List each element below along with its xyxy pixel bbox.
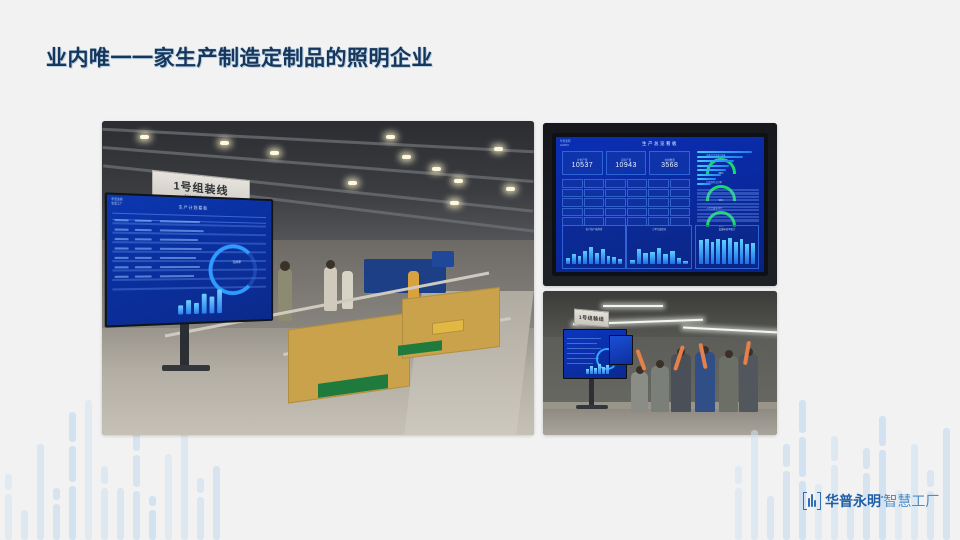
decor-bar-column bbox=[778, 380, 794, 540]
brand-sub: 智慧工厂 bbox=[883, 493, 939, 509]
kpi-value: 3568 bbox=[661, 162, 678, 169]
production-kanban-monitor: 华普永明智慧工厂 生产计划看板 bbox=[105, 192, 273, 327]
decor-bar-column bbox=[0, 360, 16, 540]
decor-bar-column bbox=[874, 380, 890, 540]
line-sign-1: 1号组装线 bbox=[574, 308, 609, 327]
display-bezel: 华普永明HUAPU 生产总览看板 计划产量 10537 实际产量 10943 在… bbox=[552, 133, 768, 276]
brand-logo: 华普永明°智慧工厂 bbox=[803, 491, 939, 511]
station-tablet-screen bbox=[609, 335, 633, 365]
worker bbox=[719, 356, 738, 412]
decor-bar-column bbox=[906, 380, 922, 540]
chart-title: 工单完成情况 bbox=[627, 227, 691, 231]
decor-bar-column bbox=[858, 380, 874, 540]
decor-bar-column bbox=[826, 380, 842, 540]
horizontal-bar-chart bbox=[697, 151, 759, 185]
decor-bar-column bbox=[64, 360, 80, 540]
chart-workorder-status: 工单完成情况 bbox=[626, 225, 692, 269]
kpi-card: 计划产量 10537 bbox=[562, 151, 603, 175]
brand-logo-text: 华普永明°智慧工厂 bbox=[825, 491, 939, 511]
photo-assembly-line-workers: 1号组装线 bbox=[543, 291, 777, 435]
page-title: 业内唯一一家生产制造定制品的照明企业 bbox=[46, 42, 433, 72]
dashboard-screen: 华普永明HUAPU 生产总览看板 计划产量 10537 实际产量 10943 在… bbox=[556, 137, 764, 272]
status-matrix bbox=[562, 179, 690, 226]
brand-name: 华普永明 bbox=[825, 493, 881, 509]
donut-label: 完成率 bbox=[224, 260, 250, 264]
kpi-value: 10943 bbox=[615, 162, 636, 169]
decor-bar-column bbox=[810, 380, 826, 540]
bars bbox=[630, 236, 688, 264]
worker bbox=[739, 354, 758, 412]
photo-production-dashboard-display: 华普永明HUAPU 生产总览看板 计划产量 10537 实际产量 10943 在… bbox=[543, 123, 777, 286]
order-table bbox=[697, 189, 759, 227]
decor-bar-column bbox=[16, 360, 32, 540]
decor-bar-column bbox=[48, 360, 64, 540]
worker bbox=[671, 354, 691, 412]
chart-title: 各产线产能趋势 bbox=[563, 227, 625, 231]
decor-bar-column bbox=[938, 380, 954, 540]
decor-bar-column bbox=[842, 380, 858, 540]
bars bbox=[566, 236, 622, 264]
decor-bar-column bbox=[32, 360, 48, 540]
workshop-floor bbox=[543, 409, 777, 435]
kpi-card: 在制数量 3568 bbox=[649, 151, 690, 175]
chart-capacity-trend: 各产线产能趋势 bbox=[562, 225, 626, 269]
photo-factory-assembly-line-overview: 1号组装线 Assembly Line 1 华普永明智慧工厂 生产计划看板 bbox=[102, 121, 534, 435]
decor-bar-column bbox=[794, 380, 810, 540]
worker bbox=[651, 366, 669, 412]
decor-bar-column bbox=[922, 380, 938, 540]
monitor-stand bbox=[180, 319, 189, 367]
station-bar-chart bbox=[586, 363, 609, 374]
brand-mark-icon bbox=[803, 492, 821, 510]
bars bbox=[699, 236, 755, 264]
monitor-stand bbox=[589, 377, 594, 407]
decor-bar-column bbox=[890, 380, 906, 540]
kpi-row: 计划产量 10537 实际产量 10943 在制数量 3568 bbox=[562, 151, 690, 175]
worker bbox=[631, 372, 648, 412]
monitor-base bbox=[576, 405, 608, 409]
line-sign-label: 1号组装线 bbox=[579, 313, 604, 322]
decor-bar-column bbox=[80, 360, 96, 540]
slide-canvas: 业内唯一一家生产制造定制品的照明企业 bbox=[0, 0, 960, 540]
kpi-value: 10537 bbox=[572, 162, 593, 169]
monitor-base bbox=[162, 365, 210, 371]
chart-title: 设备稼动率统计 bbox=[696, 227, 758, 231]
dashboard-title: 生产总览看板 bbox=[556, 141, 764, 147]
kanban-bar-chart bbox=[178, 287, 222, 314]
kanban-title: 生产计划看板 bbox=[107, 202, 271, 214]
chart-equipment-utilization: 设备稼动率统计 bbox=[695, 225, 759, 269]
kpi-card: 实际产量 10943 bbox=[606, 151, 647, 175]
